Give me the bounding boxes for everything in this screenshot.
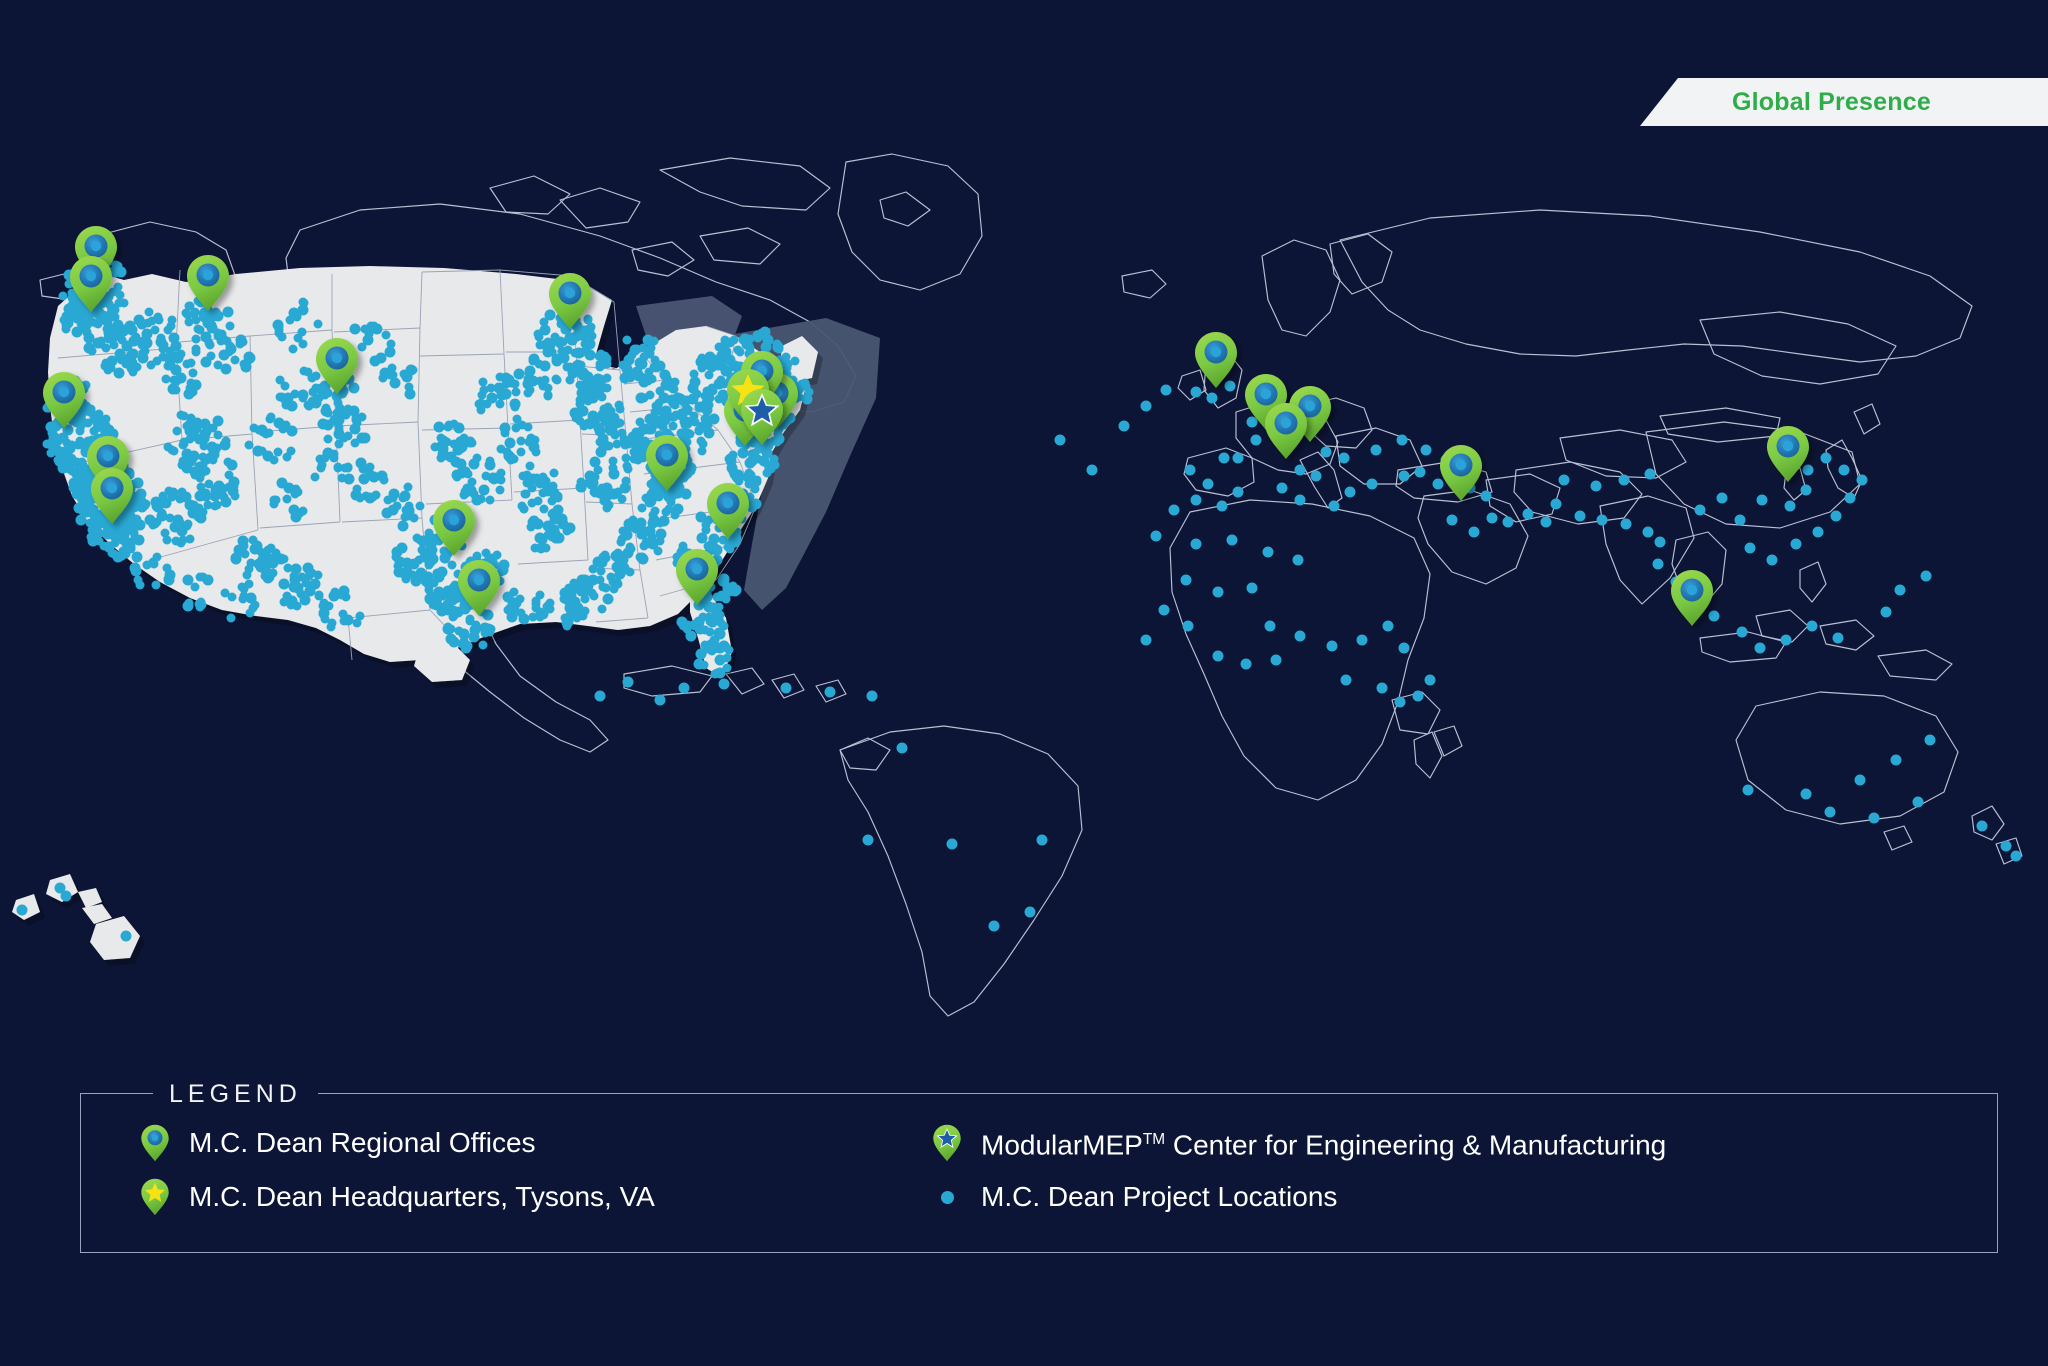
map-pin-yellow-star-icon bbox=[129, 1178, 181, 1216]
cyan-dot-icon bbox=[921, 1191, 973, 1204]
office-pins-layer[interactable] bbox=[0, 140, 2048, 1020]
legend-column-left: M.C. Dean Regional Offices M.C. Dean Hea… bbox=[129, 1116, 655, 1224]
legend-item-label: M.C. Dean Regional Offices bbox=[189, 1126, 536, 1160]
map-pin-regional-office[interactable] bbox=[68, 255, 114, 313]
map-pin-regional-office[interactable] bbox=[41, 371, 87, 429]
map-pin-blue-star-icon bbox=[921, 1124, 973, 1162]
map-pin-regional-office[interactable] bbox=[547, 272, 593, 330]
legend-title: LEGEND bbox=[153, 1078, 318, 1110]
legend-column-right: ModularMEPTM Center for Engineering & Ma… bbox=[921, 1116, 1666, 1224]
map-pin-regional-office[interactable] bbox=[1263, 402, 1309, 460]
legend-box: LEGEND M.C. Dean Regional Offices bbox=[80, 1093, 1998, 1253]
map-pin-regional-office[interactable] bbox=[674, 548, 720, 606]
map-pin-regional-office[interactable] bbox=[705, 482, 751, 540]
map-pin-regional-office[interactable] bbox=[185, 254, 231, 312]
map-pin-modularmep-center[interactable] bbox=[739, 388, 785, 446]
legend-item-label: M.C. Dean Headquarters, Tysons, VA bbox=[189, 1180, 655, 1214]
legend-item-label: M.C. Dean Project Locations bbox=[981, 1180, 1337, 1214]
map-pin-regional-office[interactable] bbox=[1765, 425, 1811, 483]
global-presence-banner: Global Presence bbox=[1640, 78, 2048, 126]
map-pin-regional-office[interactable] bbox=[431, 499, 477, 557]
map-pin-regional-office[interactable] bbox=[89, 467, 135, 525]
legend-label-post: Center for Engineering & Manufacturing bbox=[1165, 1130, 1666, 1161]
legend-item-modularmep[interactable]: ModularMEPTM Center for Engineering & Ma… bbox=[921, 1116, 1666, 1170]
map-pin-regional-office[interactable] bbox=[1193, 331, 1239, 389]
map-pin-regional-office[interactable] bbox=[644, 434, 690, 492]
legend-item-headquarters[interactable]: M.C. Dean Headquarters, Tysons, VA bbox=[129, 1170, 655, 1224]
legend-item-label: ModularMEPTM Center for Engineering & Ma… bbox=[981, 1123, 1666, 1162]
map-pin-regional-office[interactable] bbox=[314, 337, 360, 395]
legend-item-project-locations[interactable]: M.C. Dean Project Locations bbox=[921, 1170, 1666, 1224]
banner-title: Global Presence bbox=[1732, 88, 1931, 117]
map-pin-regional-office[interactable] bbox=[1438, 444, 1484, 502]
world-map[interactable] bbox=[0, 140, 2048, 1020]
map-pin-regional-office[interactable] bbox=[1669, 569, 1715, 627]
trademark-symbol: TM bbox=[1143, 1131, 1165, 1148]
legend-label-pre: ModularMEP bbox=[981, 1130, 1143, 1161]
legend-item-regional-offices[interactable]: M.C. Dean Regional Offices bbox=[129, 1116, 655, 1170]
map-pin-circle-icon bbox=[129, 1124, 181, 1162]
map-pin-regional-office[interactable] bbox=[456, 559, 502, 617]
